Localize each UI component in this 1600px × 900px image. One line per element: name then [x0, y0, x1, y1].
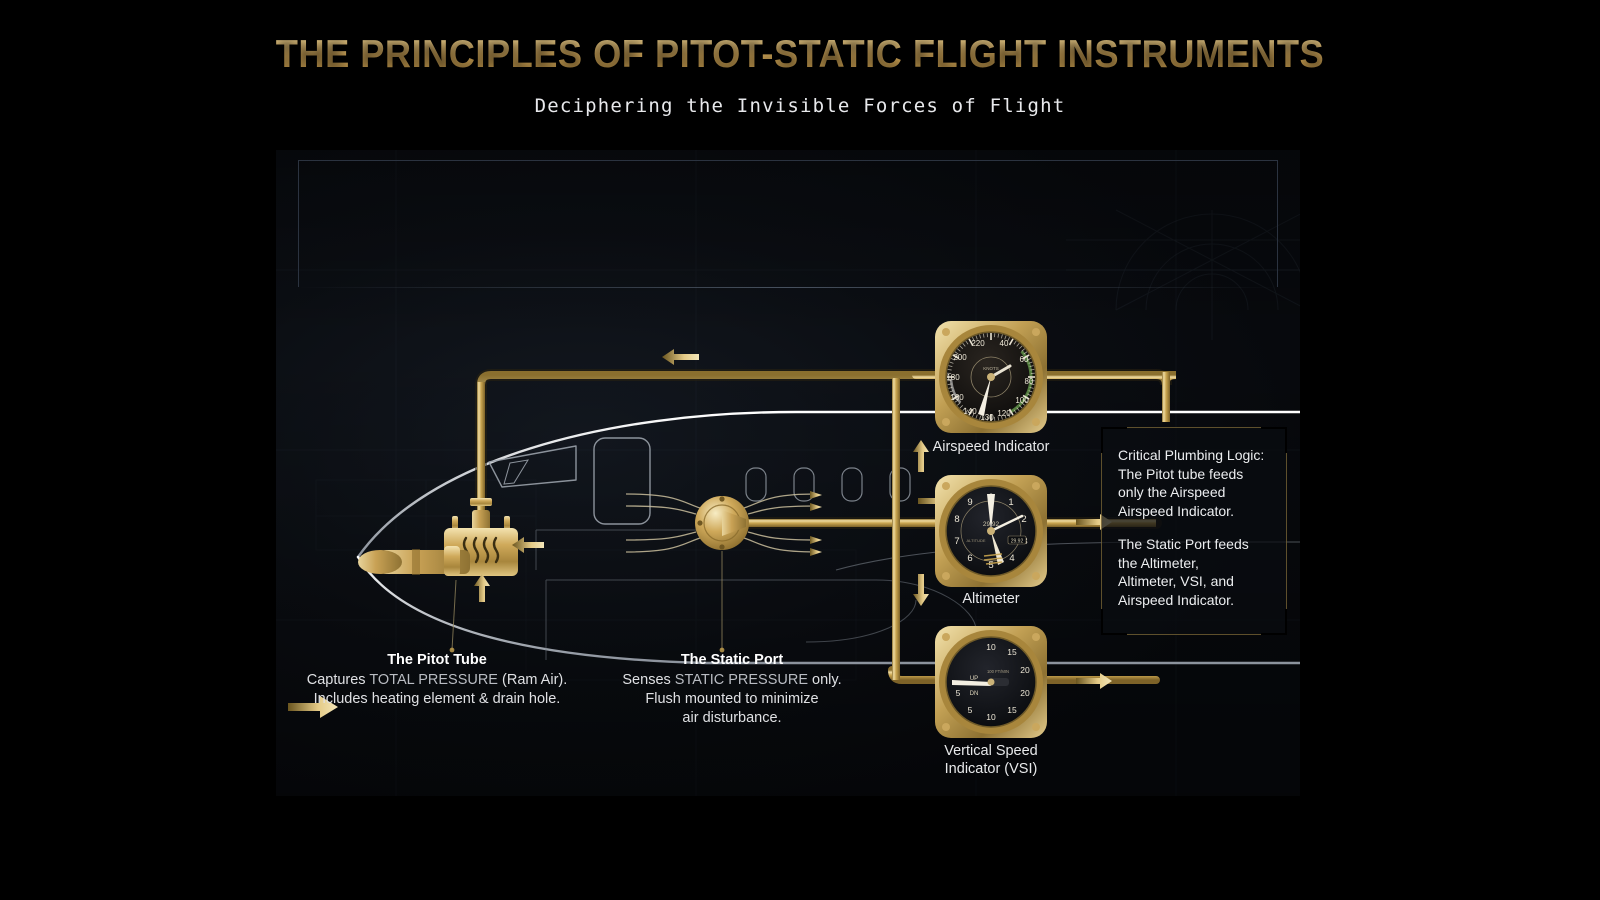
svg-text:ALTITUDE: ALTITUDE — [966, 538, 985, 543]
svg-text:10: 10 — [986, 712, 996, 722]
svg-text:140: 140 — [963, 407, 977, 416]
svg-text:8: 8 — [954, 514, 959, 525]
gauge-airspeed-indicator[interactable]: 4060 80100 120130 140160 180200 220 KNOT… — [932, 318, 1050, 436]
svg-text:40: 40 — [1000, 339, 1009, 348]
svg-text:220: 220 — [971, 339, 985, 348]
callout-pitot-line1: Captures TOTAL PRESSURE (Ram Air). — [296, 671, 578, 690]
svg-text:200: 200 — [953, 353, 967, 362]
static-port-assembly — [626, 491, 822, 652]
svg-text:20: 20 — [1020, 665, 1030, 675]
svg-text:KNOTS: KNOTS — [983, 366, 999, 371]
gauge-label-vsi-line2: Indicator (VSI) — [891, 760, 1091, 778]
callout-pitot-line2: Includes heating element & drain hole. — [296, 690, 578, 709]
callout-pitot-tube: The Pitot Tube Captures TOTAL PRESSURE (… — [296, 652, 578, 709]
highlight-static-pressure: STATIC PRESSURE — [675, 672, 808, 688]
callout-static-line2: Flush mounted to minimize — [612, 690, 852, 709]
svg-text:80: 80 — [1025, 377, 1034, 386]
svg-text:60: 60 — [1020, 355, 1029, 364]
edge-top — [1127, 427, 1261, 428]
callout-pitot-title: The Pitot Tube — [296, 652, 578, 668]
edge-left — [1101, 453, 1102, 609]
gauge-label-altimeter: Altimeter — [891, 590, 1091, 608]
infobox-p1-l3: Airspeed Indicator. — [1118, 502, 1277, 521]
svg-text:5: 5 — [988, 560, 993, 571]
edge-bottom — [1127, 634, 1261, 635]
svg-text:5: 5 — [956, 688, 961, 698]
infographic-root: THE PRINCIPLES OF PITOT-STATIC FLIGHT IN… — [0, 0, 1600, 900]
vsi-down-label: DN — [970, 691, 979, 697]
drain-hole-arrow-icon — [474, 574, 490, 602]
corner-br — [1261, 609, 1287, 635]
gauge-label-vsi-line1: Vertical Speed — [891, 742, 1091, 760]
cockpit-windows — [489, 438, 650, 524]
infobox-p2-l3: Altimeter, VSI, and — [1118, 572, 1277, 591]
page-subtitle: Deciphering the Invisible Forces of Flig… — [0, 95, 1600, 117]
info-box-plumbing-logic: Critical Plumbing Logic: The Pitot tube … — [1101, 427, 1287, 635]
page-title: THE PRINCIPLES OF PITOT-STATIC FLIGHT IN… — [56, 33, 1544, 77]
svg-text:9: 9 — [967, 497, 972, 508]
svg-text:1: 1 — [1008, 497, 1013, 508]
svg-text:5: 5 — [968, 705, 973, 715]
svg-text:160: 160 — [950, 393, 964, 402]
svg-text:10: 10 — [986, 642, 996, 652]
svg-text:7: 7 — [954, 536, 959, 547]
svg-text:15: 15 — [1007, 705, 1017, 715]
svg-text:20: 20 — [1020, 688, 1030, 698]
svg-text:29.92: 29.92 — [1011, 539, 1024, 545]
edge-right — [1286, 453, 1287, 609]
callout-static-title: The Static Port — [612, 652, 852, 668]
svg-text:4: 4 — [1009, 553, 1014, 564]
callout-static-port: The Static Port Senses STATIC PRESSURE o… — [612, 652, 852, 728]
svg-text:100 FT/MIN: 100 FT/MIN — [987, 669, 1009, 674]
gauge-label-vsi: Vertical Speed Indicator (VSI) — [891, 742, 1091, 778]
svg-text:6: 6 — [967, 553, 972, 564]
highlight-total-pressure: TOTAL PRESSURE — [369, 672, 498, 688]
callout-static-line3: air disturbance. — [612, 709, 852, 728]
gauge-label-airspeed: Airspeed Indicator — [891, 438, 1091, 456]
cabin-windows — [746, 468, 910, 501]
svg-text:15: 15 — [1007, 647, 1017, 657]
corner-bl — [1101, 609, 1127, 635]
svg-text:120: 120 — [997, 409, 1011, 418]
infobox-p2-l1: The Static Port feeds — [1118, 535, 1277, 554]
infobox-p1-l2: only the Airspeed — [1118, 483, 1277, 502]
svg-text:100: 100 — [1015, 396, 1029, 405]
gauge-vsi[interactable]: 1015 2020 1510 55 UP DN 100 FT/MIN — [932, 623, 1050, 741]
infobox-heading: Critical Plumbing Logic: — [1118, 446, 1277, 465]
pitot-flow-arrow-left-icon — [662, 349, 699, 365]
callout-static-line1: Senses STATIC PRESSURE only. — [612, 671, 852, 690]
infobox-p1-l1: The Pitot tube feeds — [1118, 465, 1277, 484]
gauge-altimeter[interactable]: 01 23 45 67 89 29.92 ALTITUDE 29.92 — [932, 472, 1050, 590]
infobox-p2-l4: Airspeed Indicator. — [1118, 591, 1277, 610]
svg-text:180: 180 — [946, 373, 960, 382]
arrow-right-icon-vsi — [1076, 673, 1112, 689]
pitot-tube-assembly — [358, 498, 518, 652]
infobox-p2-l2: the Altimeter, — [1118, 554, 1277, 573]
